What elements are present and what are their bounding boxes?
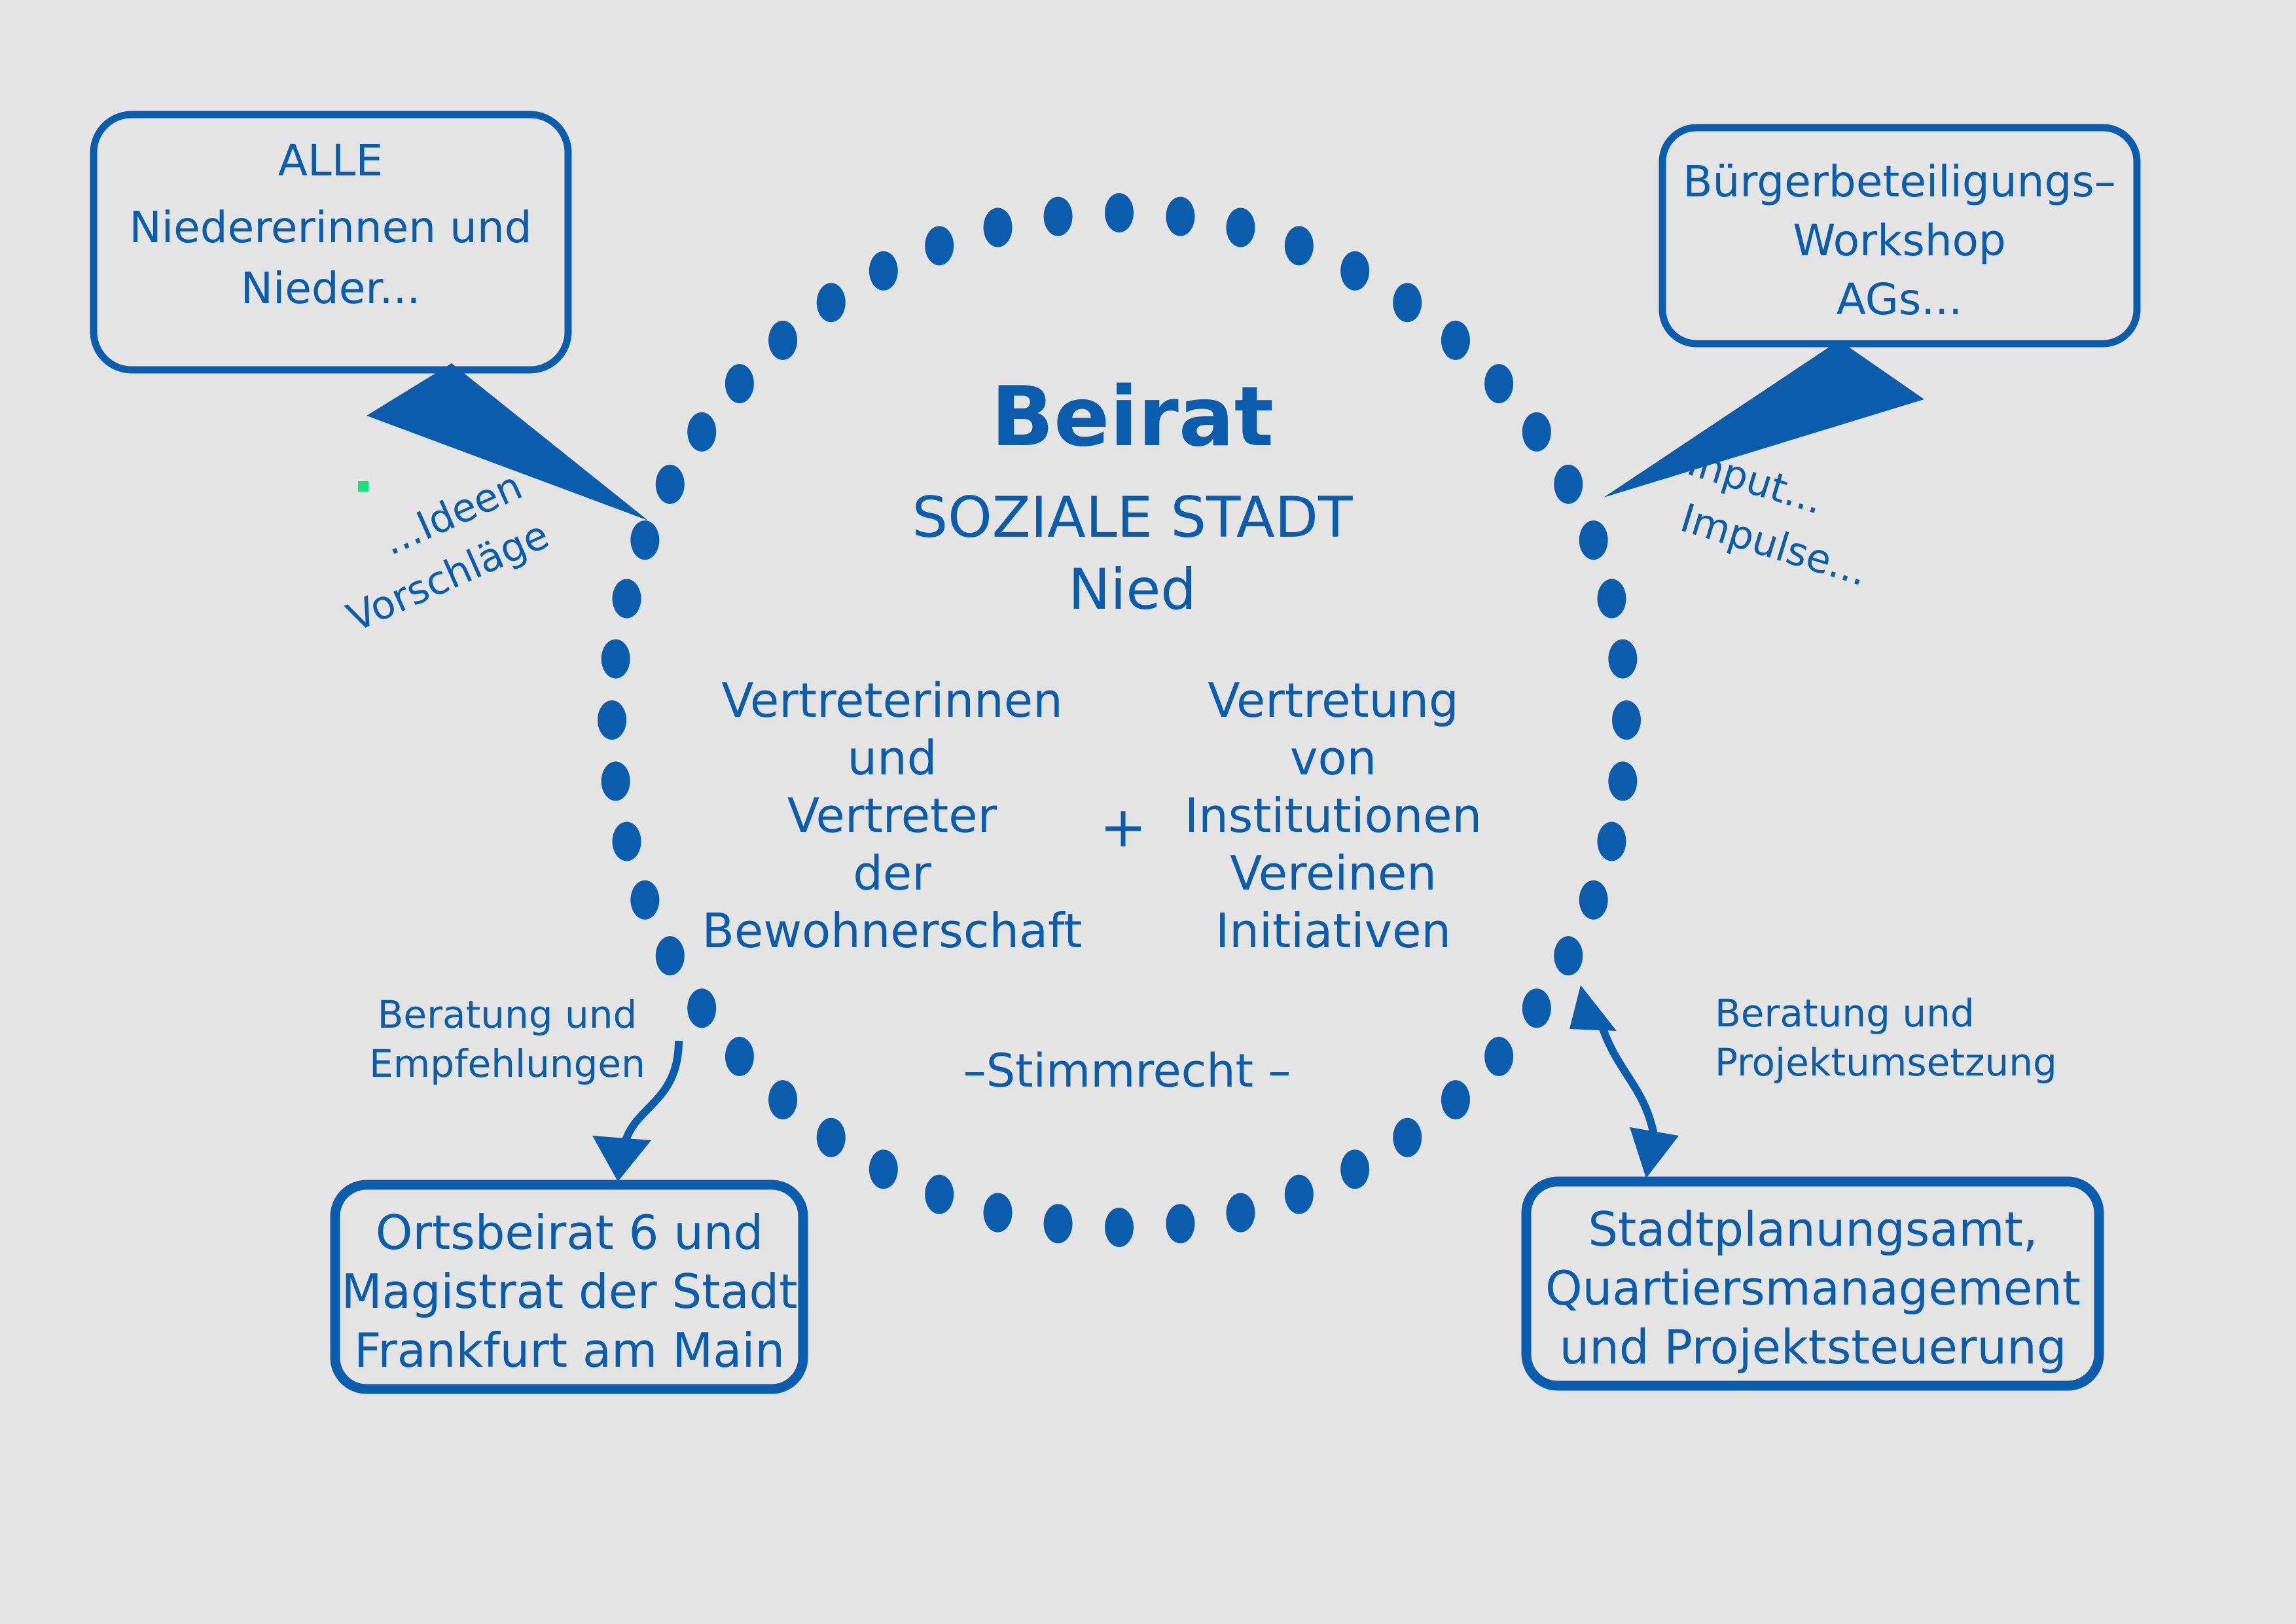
circle-dot (817, 283, 846, 322)
arrow-label-bottom-left-line-1: Beratung und (378, 992, 637, 1037)
circle-dot (1226, 208, 1255, 247)
speech-bubble-top-right-line-3: AGs... (1837, 274, 1962, 325)
arrow-label-bottom-left: Beratung und Empfehlungen (369, 992, 645, 1086)
center-footer-note: –Stimmrecht – (963, 1044, 1291, 1098)
circle-dot (1484, 364, 1513, 403)
circle-dot (1579, 520, 1608, 560)
circle-dot (984, 208, 1013, 247)
page-title: Beirat (991, 369, 1274, 465)
speech-bubble-top-right-line-2: Workshop (1793, 215, 2006, 266)
box-bottom-left-line-2: Magistrat der Stadt (341, 1264, 797, 1319)
circle-dot (613, 821, 641, 861)
circle-dot (1579, 880, 1608, 920)
circle-dot (1340, 251, 1369, 291)
circle-dot (817, 1118, 846, 1157)
circle-dot (687, 412, 716, 452)
circle-dot (1285, 226, 1314, 265)
center-right-column-line-4: Vereinen (1230, 846, 1437, 901)
circle-dot (656, 936, 685, 975)
circle-dot (1608, 640, 1637, 679)
circle-dot (1441, 1080, 1470, 1119)
box-bottom-left-line-3: Frankfurt am Main (354, 1323, 785, 1378)
arrow-bidirectional-icon (1600, 1021, 1655, 1139)
box-bottom-left-line-1: Ortsbeirat 6 und (376, 1205, 764, 1260)
circle-dot (1554, 936, 1583, 975)
circle-dot (630, 880, 659, 920)
circle-dot (598, 700, 626, 740)
speech-bubble-top-left-line-1: ALLE (278, 135, 383, 186)
circle-dot (725, 364, 754, 403)
circle-dot (1522, 412, 1551, 452)
speech-bubble-top-right-line-1: Bürgerbeteiligungs– (1683, 156, 2116, 207)
circle-dot (601, 761, 630, 801)
circle-dot (925, 1175, 954, 1214)
center-right-column-line-3: Institutionen (1185, 788, 1482, 843)
arrow-bottom-right (1570, 985, 1679, 1178)
circle-dot (613, 579, 641, 619)
speech-bubble-top-left[interactable]: ALLE Niedererinnen und Nieder... (94, 115, 648, 520)
side-label-left: ...Ideen Vorschläge (318, 461, 556, 641)
circle-dot (1105, 193, 1134, 232)
diagram-canvas: ALLE Niedererinnen und Nieder... Bürgerb… (0, 0, 2296, 1624)
box-bottom-right[interactable]: Stadtplanungsamt, Quartiersmanagement un… (1526, 1182, 2099, 1386)
circle-dot (1285, 1175, 1314, 1214)
center-group: Beirat SOZIALE STADT Nied Vertreterinnen… (702, 369, 1482, 1098)
circle-dot (869, 1149, 898, 1189)
circle-dot (1441, 321, 1470, 360)
circle-dot (1612, 700, 1641, 740)
speech-bubble-top-left-line-2: Niedererinnen und (129, 202, 531, 253)
circle-dot (869, 251, 898, 291)
circle-dot (1597, 579, 1626, 619)
circle-dot (768, 1080, 797, 1119)
box-bottom-right-line-3: und Projektsteuerung (1560, 1320, 2067, 1375)
center-right-column-line-5: Initiativen (1215, 903, 1451, 958)
circle-dot (1166, 197, 1194, 236)
center-subtitle-line-1: SOZIALE STADT (912, 485, 1352, 550)
arrow-label-bottom-right-line-2: Projektumsetzung (1715, 1040, 2057, 1085)
center-left-column-line-5: Bewohnerschaft (702, 903, 1083, 958)
arrow-label-bottom-right: Beratung und Projektumsetzung (1715, 991, 2057, 1085)
circle-dot (656, 465, 685, 504)
circle-dot (925, 226, 954, 265)
arrow-down-head-icon (592, 1136, 651, 1182)
arrow-down-head-icon (1630, 1127, 1679, 1178)
center-left-column-line-1: Vertreterinnen (721, 673, 1062, 728)
circle-dot (1484, 1037, 1513, 1076)
circle-dot (1608, 761, 1637, 801)
arrow-label-bottom-left-line-2: Empfehlungen (369, 1041, 645, 1086)
box-bottom-right-line-2: Quartiersmanagement (1545, 1261, 2081, 1316)
center-left-column-line-4: der (853, 846, 931, 901)
center-right-column-line-2: von (1290, 731, 1376, 785)
box-bottom-left[interactable]: Ortsbeirat 6 und Magistrat der Stadt Fra… (335, 1185, 803, 1389)
side-label-right: Input... Impulse... (1666, 439, 1889, 596)
speech-bubble-top-left-line-3: Nieder... (241, 263, 421, 314)
box-bottom-right-line-1: Stadtplanungsamt, (1588, 1202, 2037, 1257)
green-square-marker-icon (358, 481, 368, 492)
circle-dot (1044, 197, 1073, 236)
circle-dot (768, 321, 797, 360)
circle-dot (1522, 988, 1551, 1028)
circle-dot (1105, 1208, 1134, 1247)
circle-dot (1340, 1149, 1369, 1189)
center-right-column-line-1: Vertretung (1208, 673, 1458, 728)
center-operator: + (1100, 795, 1147, 860)
circle-dot (1597, 821, 1626, 861)
circle-dot (1554, 465, 1583, 504)
circle-dot (1393, 283, 1422, 322)
circle-dot (1166, 1204, 1194, 1243)
circle-dot (601, 640, 630, 679)
circle-dot (687, 988, 716, 1028)
speech-bubble-top-right[interactable]: Bürgerbeteiligungs– Workshop AGs... (1604, 128, 2137, 497)
circle-dot (1226, 1193, 1255, 1232)
circle-dot (1393, 1118, 1422, 1157)
circle-dot (630, 520, 659, 560)
circle-dot (725, 1037, 754, 1076)
arrow-label-bottom-right-line-1: Beratung und (1715, 991, 1975, 1036)
center-left-column-line-3: Vertreter (787, 788, 997, 843)
arrow-up-head-icon (1570, 985, 1617, 1031)
center-left-column-line-2: und (848, 731, 937, 785)
circle-dot (984, 1193, 1013, 1232)
center-subtitle-line-2: Nied (1068, 557, 1196, 623)
circle-dot (1044, 1204, 1073, 1243)
